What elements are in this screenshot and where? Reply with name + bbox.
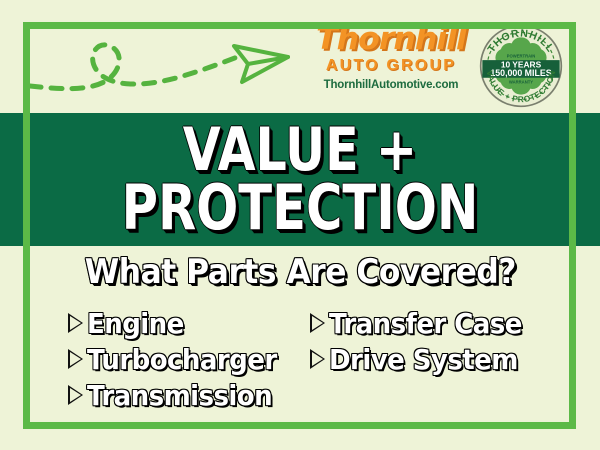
logo-wordmark: Thornhill	[310, 24, 471, 55]
main-headline: VALUE + PROTECTION	[0, 113, 600, 246]
list-item: Transmission	[68, 377, 291, 413]
triangle-bullet-icon	[68, 349, 83, 369]
subheading: What Parts Are Covered?	[0, 252, 600, 292]
covered-parts-left-column: Engine Turbocharger Transmission	[68, 305, 291, 413]
warranty-badge-seal: THORNHILL POWERTRAIN 10 YEARS 150,000 MI…	[479, 24, 563, 108]
badge-powertrain-text: POWERTRAIN	[507, 54, 536, 59]
badge-warranty-text: WARRANTY	[509, 80, 533, 85]
dashed-flight-path-arrow-icon	[26, 24, 296, 104]
list-item: Turbocharger	[68, 341, 291, 377]
list-item: Drive System	[310, 341, 536, 377]
part-label: Transmission	[87, 379, 272, 412]
thornhill-auto-group-logo: Thornhill AUTO GROUP ThornhillAutomotive…	[312, 24, 470, 91]
part-label: Drive System	[329, 343, 518, 376]
promo-poster: Thornhill AUTO GROUP ThornhillAutomotive…	[0, 0, 600, 450]
part-label: Transfer Case	[329, 307, 522, 340]
subheading-text: What Parts Are Covered?	[84, 252, 515, 292]
covered-parts-right-column: Transfer Case Drive System	[310, 305, 536, 377]
triangle-bullet-icon	[310, 313, 325, 333]
covered-parts-lists: Engine Turbocharger Transmission Transfe…	[0, 305, 600, 420]
part-label: Turbocharger	[87, 343, 277, 376]
part-label: Engine	[87, 307, 184, 340]
logo-subtitle: AUTO GROUP	[312, 58, 470, 74]
triangle-bullet-icon	[68, 385, 83, 405]
list-item: Transfer Case	[310, 305, 536, 341]
list-item: Engine	[68, 305, 291, 341]
badge-miles-text: 150,000 MILES	[490, 68, 551, 78]
headline-line-2: PROTECTION	[122, 179, 479, 237]
poster-header: Thornhill AUTO GROUP ThornhillAutomotive…	[0, 0, 600, 113]
triangle-bullet-icon	[68, 313, 83, 333]
logo-website: ThornhillAutomotive.com	[312, 79, 470, 91]
triangle-bullet-icon	[310, 349, 325, 369]
